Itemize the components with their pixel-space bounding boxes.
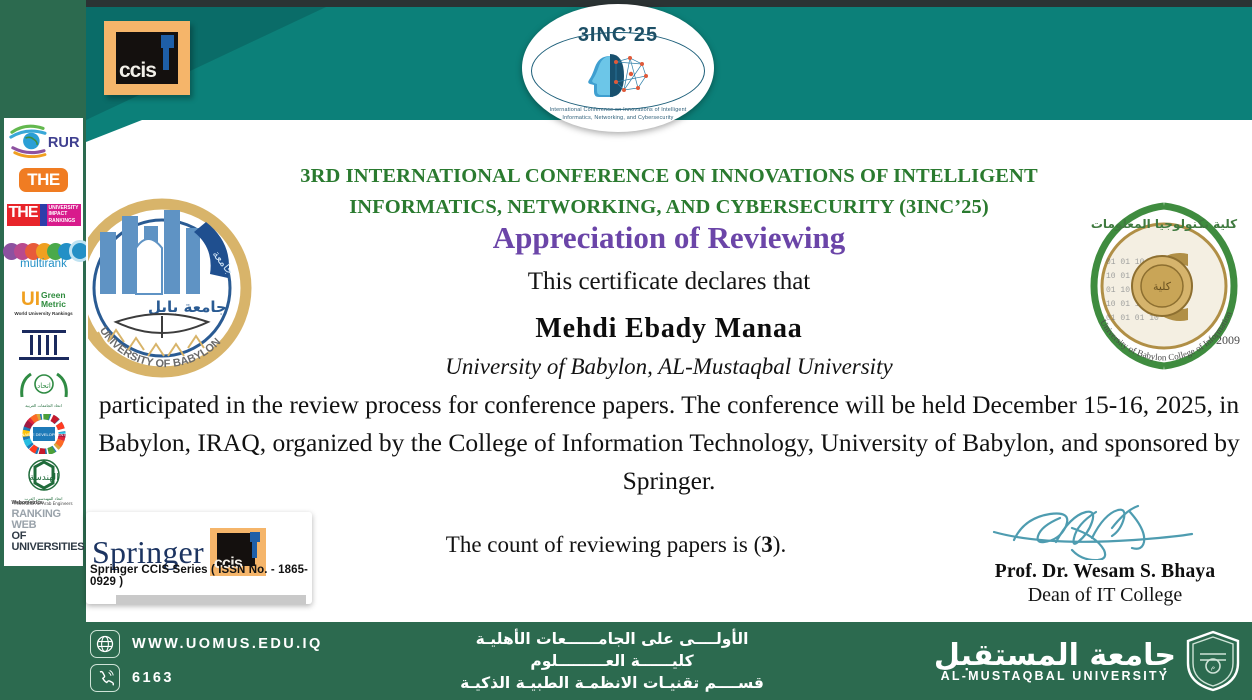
recipient-name: Mehdi Ebady Manaa	[119, 313, 1219, 345]
impact-sub3: RANKINGS	[49, 218, 76, 224]
footer-bar: WWW.UOMUS.EDU.IQ 6163 الأولــــى على الج…	[0, 622, 1252, 700]
ui-label: UI	[21, 289, 40, 311]
springer-ccis-badge: Springer ccis Springer CCIS Series ( ISS…	[86, 512, 312, 604]
footer-arabic-line-2: كليــــــة العـــــــــلوم	[352, 650, 872, 672]
cit-year: 2009	[1216, 333, 1240, 347]
rur-label: RUR	[47, 135, 79, 151]
mustaqbal-university-brand: جامعة المستقبل AL-MUSTAQBAL UNIVERSITY م	[934, 630, 1242, 692]
webometrics-w2: RANKING WEB	[12, 509, 80, 531]
impact-sub2: IMPACT	[49, 211, 68, 217]
conference-title-line-1: 3RD INTERNATIONAL CONFERENCE ON INNOVATI…	[119, 165, 1219, 188]
greenmetric-metric: Metric	[41, 299, 66, 309]
greenmetric-sub: World University Rankings	[14, 311, 72, 316]
greek-columns-logo	[8, 326, 80, 364]
ccis-logo-text: ccis	[119, 59, 156, 83]
conference-acronym: 3INC’25	[522, 24, 714, 47]
conference-tagline-2: Informatics, Networking, and Cybersecuri…	[522, 115, 714, 121]
arab-union-label: اتحاد الجامعات العربية	[25, 403, 61, 408]
webometrics-w3: OF UNIVERSITIES	[12, 531, 85, 553]
the-impact-ranking-logo: THE UNIVERSITY IMPACT RANKINGS	[8, 200, 80, 230]
the-impact-label: THE	[7, 204, 40, 226]
conference-title-line-2: INFORMATICS, NETWORKING, AND CYBERSECURI…	[119, 196, 1219, 219]
footer-phone-row: 6163	[90, 664, 323, 692]
header-notch-triangle	[86, 120, 142, 142]
recipient-affiliation: University of Babylon, AL-Mustaqbal Univ…	[119, 354, 1219, 380]
conference-logo: 3INC’25 International Conference on Inno…	[522, 4, 714, 132]
handwritten-signature	[980, 498, 1230, 560]
reviewing-count-line: The count of reviewing papers is (3).	[266, 532, 966, 558]
columns-base	[19, 357, 69, 360]
footer-phone[interactable]: 6163	[132, 670, 174, 686]
the-impact-sublabels: UNIVERSITY IMPACT RANKINGS	[47, 204, 81, 226]
globe-icon	[90, 630, 120, 658]
certificate-body: ccis 3INC’25	[86, 0, 1252, 700]
declaration-line: This certificate declares that	[119, 268, 1219, 296]
conference-tagline-1: International Conference on Innovations …	[522, 107, 714, 113]
signatory-role: Dean of IT College	[970, 584, 1240, 607]
left-sidebar: RUR THE THE UNIVERSITY IMPACT RANKINGS	[0, 0, 86, 700]
the-ranking-logo: THE	[8, 162, 80, 198]
signatory-name: Prof. Dr. Wesam S. Bhaya	[970, 561, 1240, 583]
count-suffix: ).	[773, 532, 786, 557]
svg-text:م: م	[1211, 663, 1215, 671]
footer-arabic-line-1: الأولــــى على الجامــــــعات الأهليـة	[352, 628, 872, 650]
ccis-blue-bar	[163, 48, 169, 70]
certificate-subtitle: Appreciation of Reviewing	[119, 220, 1219, 256]
ccis-blue-square	[161, 35, 174, 48]
certificate-canvas: RUR THE THE UNIVERSITY IMPACT RANKINGS	[0, 0, 1252, 700]
mustaqbal-english: AL-MUSTAQBAL UNIVERSITY	[934, 669, 1176, 683]
columns-top	[22, 330, 66, 333]
ccis-logo: ccis	[104, 21, 190, 95]
certificate-body-text: participated in the review process for c…	[86, 386, 1252, 500]
impact-sub1: UNIVERSITY	[49, 205, 79, 211]
top-dark-bar	[86, 0, 1252, 7]
mustaqbal-arabic: جامعة المستقبل	[934, 639, 1176, 673]
columns-shafts	[30, 335, 57, 355]
mustaqbal-shield-icon: م	[1184, 630, 1242, 692]
sdg-label: SUSTAINABLE DEVELOPMENT GOALS	[20, 432, 68, 437]
multirank-label: multirank	[20, 258, 67, 270]
count-prefix: The count of reviewing papers is (	[446, 532, 762, 557]
count-value: 3	[761, 532, 773, 557]
footer-arabic-line-3: قســــم تقنيـات الانظمـة الطبيـة الذكيـة	[352, 672, 872, 694]
ranking-logos-panel: RUR THE THE UNIVERSITY IMPACT RANKINGS	[4, 118, 83, 566]
arab-universities-union-logo: اتحاد اتحاد الجامعات العربية	[8, 366, 80, 410]
signature-block: Prof. Dr. Wesam S. Bhaya Dean of IT Coll…	[970, 498, 1240, 607]
springer-issn-line: Springer CCIS Series ( ISSN No. - 1865-0…	[90, 564, 312, 588]
webometrics-w1: Webometrics	[12, 498, 43, 509]
ai-head-network-icon	[582, 50, 656, 100]
rur-ranking-logo: RUR	[8, 122, 80, 160]
the-impact-bar	[40, 204, 47, 226]
springer-shade-bar	[116, 595, 306, 604]
phone-icon	[90, 664, 120, 692]
sdg-goals-logo: SUSTAINABLE DEVELOPMENT GOALS	[8, 412, 80, 456]
webometrics-logo: Webometrics RANKING WEB OF UNIVERSITIES	[8, 508, 80, 542]
footer-arabic-text: الأولــــى على الجامــــــعات الأهليـة ك…	[352, 628, 872, 694]
the-ranking-label: THE	[19, 168, 68, 192]
multirank-logo: multirank	[8, 232, 80, 278]
footer-website-row: WWW.UOMUS.EDU.IQ	[90, 630, 323, 658]
footer-contact-block: WWW.UOMUS.EDU.IQ 6163	[90, 630, 323, 692]
footer-website[interactable]: WWW.UOMUS.EDU.IQ	[132, 636, 323, 652]
ui-greenmetric-logo: UI Green Metric World University Ranking…	[8, 280, 80, 324]
svg-text:الهندسة: الهندسة	[29, 473, 58, 483]
svg-text:اتحاد: اتحاد	[37, 382, 51, 390]
